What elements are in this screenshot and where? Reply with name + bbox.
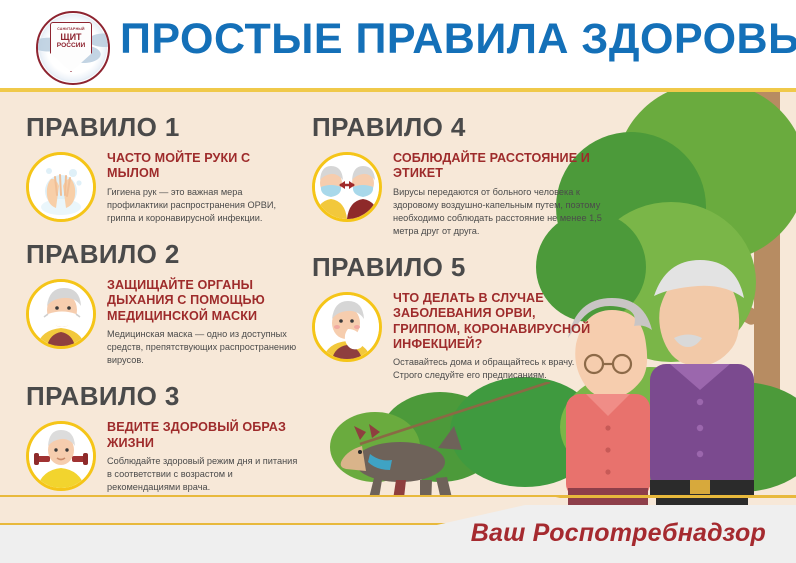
rule-description: Вирусы передаются от больного человека к…	[393, 186, 602, 238]
rule-heading: СОБЛЮДАЙТЕ РАССТОЯНИЕ И ЭТИКЕТ	[393, 151, 602, 182]
washing-hands-svg	[29, 155, 93, 219]
rule-number-label: ПРАВИЛО 4	[312, 114, 602, 140]
rule-number-label: ПРАВИЛО 3	[26, 383, 301, 409]
washing-hands-icon	[26, 152, 96, 222]
rule-description: Гигиена рук — это важная мера профилакти…	[107, 186, 301, 225]
coughing-svg	[315, 295, 379, 359]
dog-illustration	[300, 382, 560, 505]
poster-body: ПРАВИЛО 1	[0, 92, 796, 505]
rule-number-label: ПРАВИЛО 5	[312, 254, 602, 280]
rule-item: ПРАВИЛО 1	[26, 114, 301, 225]
rule-number-label: ПРАВИЛО 1	[26, 114, 301, 140]
rule-item: ПРАВИЛО 3	[26, 383, 301, 494]
dog-svg	[300, 382, 560, 505]
social-distancing-icon	[312, 152, 382, 222]
rule-description: Медицинская маска — одно из доступных ср…	[107, 328, 301, 367]
rule-number-label: ПРАВИЛО 2	[26, 241, 301, 267]
rules-column-left: ПРАВИЛО 1	[26, 114, 301, 505]
rule-description: Оставайтесь дома и обращайтесь к врачу. …	[393, 356, 602, 382]
rule-item: ПРАВИЛО 5	[312, 254, 602, 383]
poster-footer: Ваш Роспотребнадзор	[0, 505, 796, 563]
logo-line-3: РОССИИ	[57, 43, 85, 50]
rule-item: ПРАВИЛО 4	[312, 114, 602, 238]
rule-heading: ЧАСТО МОЙТЕ РУКИ С МЫЛОМ	[107, 151, 301, 182]
logo-line-2: ЩИТ	[60, 33, 81, 42]
rule-heading: ЗАЩИЩАЙТЕ ОРГАНЫ ДЫХАНИЯ С ПОМОЩЬЮ МЕДИЦ…	[107, 278, 301, 324]
footer-signature: Ваш Роспотребнадзор	[471, 519, 766, 548]
coughing-person-icon	[312, 292, 382, 362]
rule-item: ПРАВИЛО 2	[26, 241, 301, 367]
person-wearing-mask-icon	[26, 279, 96, 349]
rules-column-right: ПРАВИЛО 4	[312, 114, 602, 399]
dumbbell-exercise-icon	[26, 421, 96, 491]
dumbbell-svg	[29, 424, 93, 488]
rule-heading: ЧТО ДЕЛАТЬ В СЛУЧАЕ ЗАБОЛЕВАНИЯ ОРВИ, ГР…	[393, 291, 602, 352]
sanitary-shield-logo: САНИТАРНЫЙ ЩИТ РОССИИ	[24, 8, 116, 86]
poster-header: САНИТАРНЫЙ ЩИТ РОССИИ ПРОСТЫЕ ПРАВИЛА ЗД…	[0, 0, 796, 92]
page-title: ПРОСТЫЕ ПРАВИЛА ЗДОРОВЬЯ	[120, 18, 780, 61]
rule-description: Соблюдайте здоровый режим дня и питания …	[107, 455, 301, 494]
distancing-svg	[315, 155, 379, 219]
poster-root: САНИТАРНЫЙ ЩИТ РОССИИ ПРОСТЫЕ ПРАВИЛА ЗД…	[0, 0, 796, 563]
masked-person-svg	[29, 282, 93, 346]
rule-heading: ВЕДИТЕ ЗДОРОВЫЙ ОБРАЗ ЖИЗНИ	[107, 420, 301, 451]
